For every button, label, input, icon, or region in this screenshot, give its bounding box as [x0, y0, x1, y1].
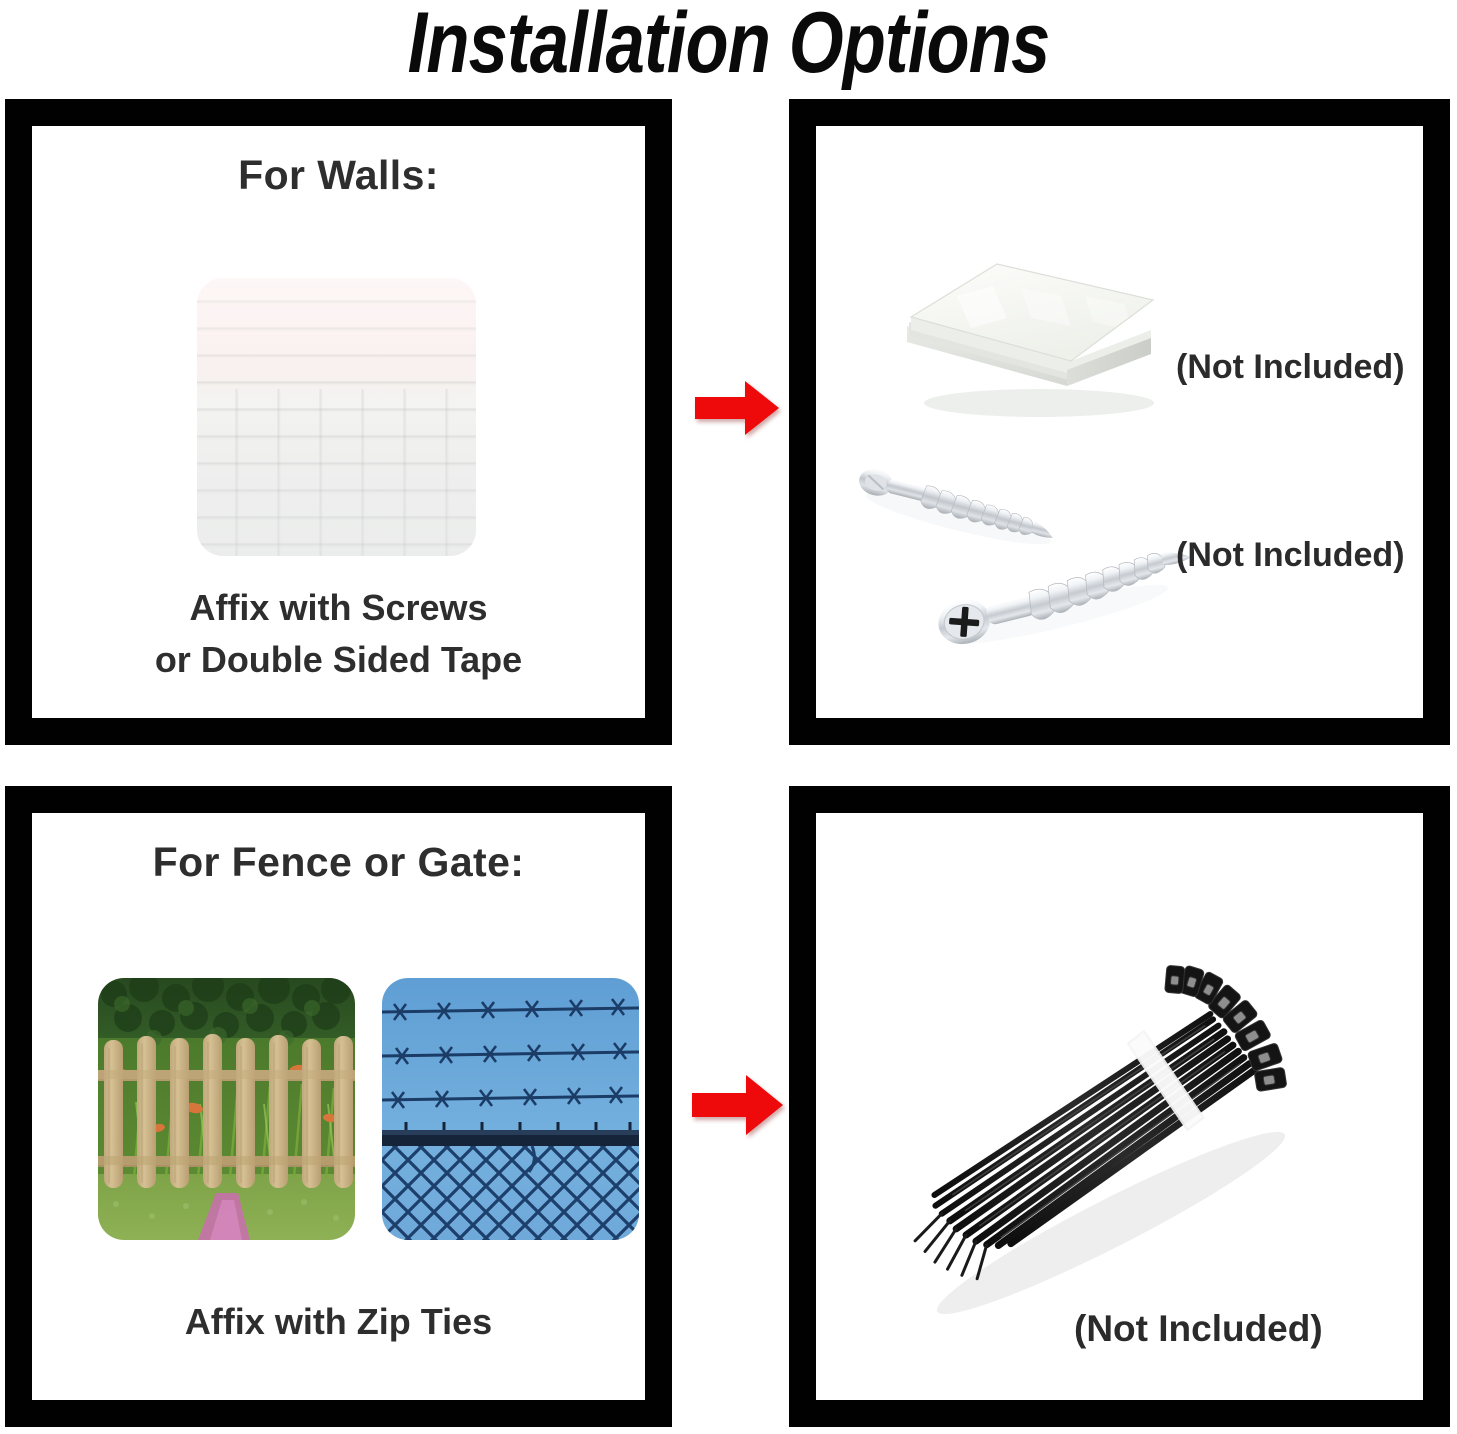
panel-walls-caption-line1: Affix with Screws [32, 582, 645, 634]
panel-walls-caption-line2: or Double Sided Tape [32, 634, 645, 686]
double-sided-tape-stack [889, 238, 1167, 423]
panel-zip-ties: (Not Included) [789, 786, 1450, 1427]
red-right-arrow-icon-bottom [690, 1073, 785, 1137]
paint-wash-overlay [197, 278, 476, 556]
panel-for-walls: For Walls: Affix with Screws or Double S… [5, 99, 672, 745]
screws-not-included-label: (Not Included) [1176, 536, 1405, 575]
panel-fence-heading: For Fence or Gate: [32, 839, 645, 886]
wood-screws-pair [846, 446, 1196, 651]
zipties-not-included-label: (Not Included) [1074, 1308, 1323, 1350]
panel-wall-hardware: (Not Included) [789, 99, 1450, 745]
red-right-arrow-icon-top [693, 379, 781, 437]
tape-not-included-label: (Not Included) [1176, 348, 1405, 387]
panel-for-fence-or-gate: For Fence or Gate: [5, 786, 672, 1427]
panel-fence-caption: Affix with Zip Ties [32, 1296, 645, 1348]
page-title: Installation Options [131, 0, 1326, 93]
white-brick-wall-photo [197, 278, 476, 556]
barbed-wire-chain-link-fence-photo [382, 978, 639, 1240]
wooden-picket-fence-photo [98, 978, 355, 1240]
black-zip-ties-bundle [861, 923, 1361, 1323]
panel-walls-caption: Affix with Screws or Double Sided Tape [32, 582, 645, 686]
panel-walls-heading: For Walls: [32, 152, 645, 199]
